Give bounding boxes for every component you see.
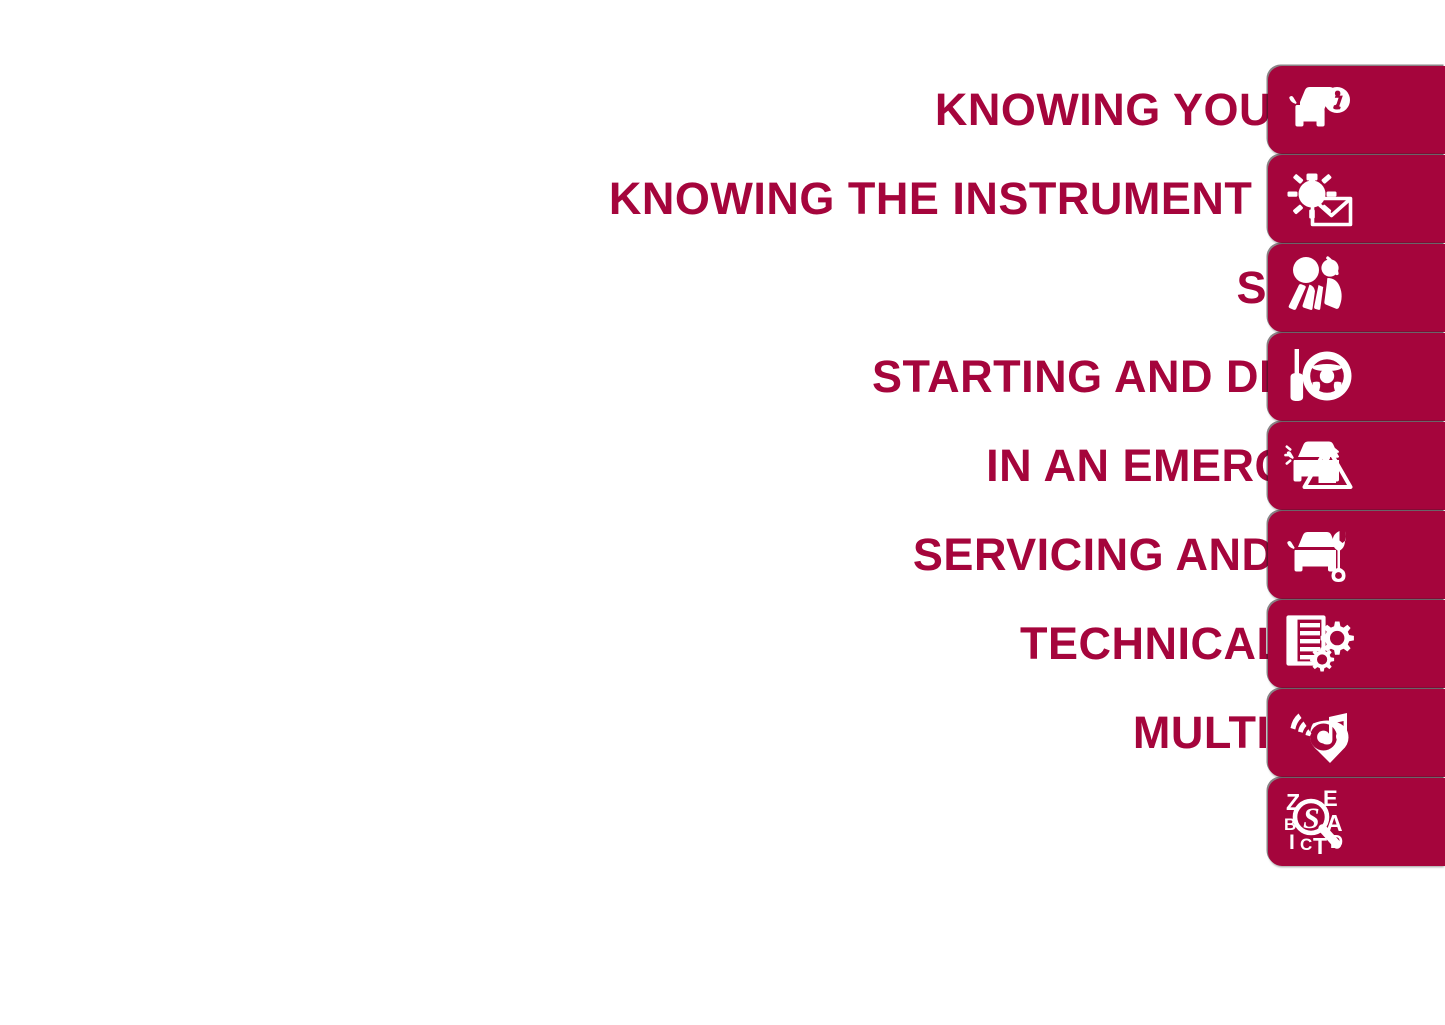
toc-tab-multimedia[interactable] [1268, 689, 1445, 777]
toc-tab-in-an-emergency[interactable] [1268, 422, 1445, 510]
manual-contents-page: KNOWING YOUR CAR KNOWING THE INSTRUMENT … [0, 0, 1445, 1025]
toc-tab-technical-data[interactable] [1268, 600, 1445, 688]
index-letter-s: S [1303, 802, 1320, 835]
toc-entry-starting-and-driving[interactable]: STARTING AND DRIVING [0, 333, 1445, 422]
toc-tab-index[interactable]: Z B I C T E A D S [1268, 778, 1445, 866]
key-steering-wheel-icon [1282, 341, 1354, 413]
table-of-contents: KNOWING YOUR CAR KNOWING THE INSTRUMENT … [0, 66, 1445, 867]
toc-tab-knowing-your-car[interactable] [1268, 66, 1445, 154]
airbag-seatbelt-icon [1282, 252, 1354, 324]
toc-entry-index[interactable]: INDEX Z B I C T E A D S [0, 778, 1445, 867]
toc-entry-technical-data[interactable]: TECHNICAL DATA [0, 600, 1445, 689]
music-signal-pin-icon [1282, 697, 1354, 769]
car-hazard-triangle-icon [1282, 430, 1354, 502]
toc-entry-multimedia[interactable]: MULTIMEDIA [0, 689, 1445, 778]
letters-magnifier-icon: Z B I C T E A D S [1282, 786, 1354, 858]
toc-entry-knowing-the-instrument-panel[interactable]: KNOWING THE INSTRUMENT PANEL [0, 155, 1445, 244]
index-letter-c: C [1300, 835, 1312, 854]
document-gears-icon [1282, 608, 1354, 680]
toc-entry-safety[interactable]: SAFETY [0, 244, 1445, 333]
toc-entry-servicing-and-care[interactable]: SERVICING AND CARE [0, 511, 1445, 600]
toc-tab-starting-and-driving[interactable] [1268, 333, 1445, 421]
toc-tab-servicing-and-care[interactable] [1268, 511, 1445, 599]
car-info-icon [1282, 74, 1354, 146]
warning-lamp-message-icon [1282, 163, 1354, 235]
toc-tab-safety[interactable] [1268, 244, 1445, 332]
toc-tab-knowing-the-instrument-panel[interactable] [1268, 155, 1445, 243]
car-wrench-icon [1282, 519, 1354, 591]
toc-entry-in-an-emergency[interactable]: IN AN EMERGENCY [0, 422, 1445, 511]
index-letter-i: I [1289, 831, 1295, 854]
toc-entry-knowing-your-car[interactable]: KNOWING YOUR CAR [0, 66, 1445, 155]
